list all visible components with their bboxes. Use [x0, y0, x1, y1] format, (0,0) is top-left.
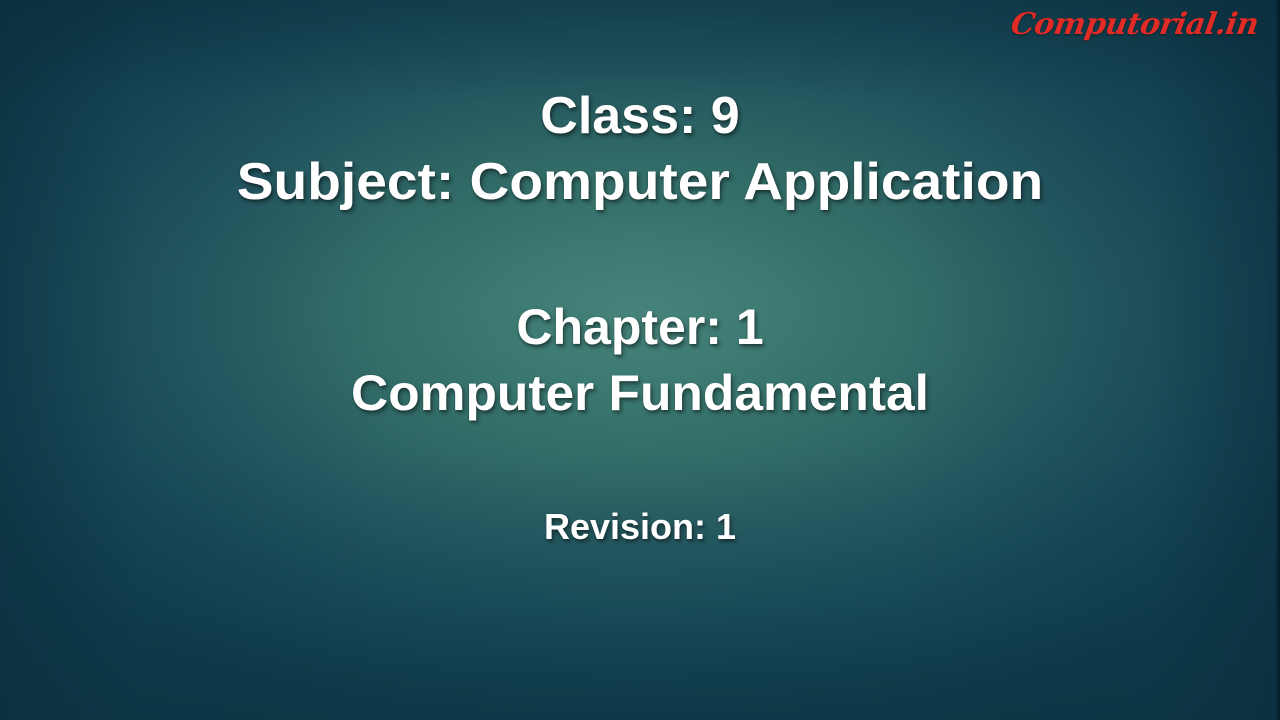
subject-line: Subject: Computer Application: [0, 148, 1280, 216]
chapter-block: Chapter: 1 Computer Fundamental: [0, 294, 1280, 426]
revision-line: Revision: 1: [0, 504, 1280, 550]
class-line: Class: 9: [0, 84, 1280, 148]
class-subject-block: Class: 9 Subject: Computer Application: [0, 84, 1280, 216]
chapter-title-line: Computer Fundamental: [0, 360, 1280, 426]
title-slide: Computorial.in Class: 9 Subject: Compute…: [0, 0, 1280, 720]
slide-content: Class: 9 Subject: Computer Application C…: [0, 0, 1280, 720]
revision-block: Revision: 1: [0, 504, 1280, 550]
chapter-number-line: Chapter: 1: [0, 294, 1280, 360]
